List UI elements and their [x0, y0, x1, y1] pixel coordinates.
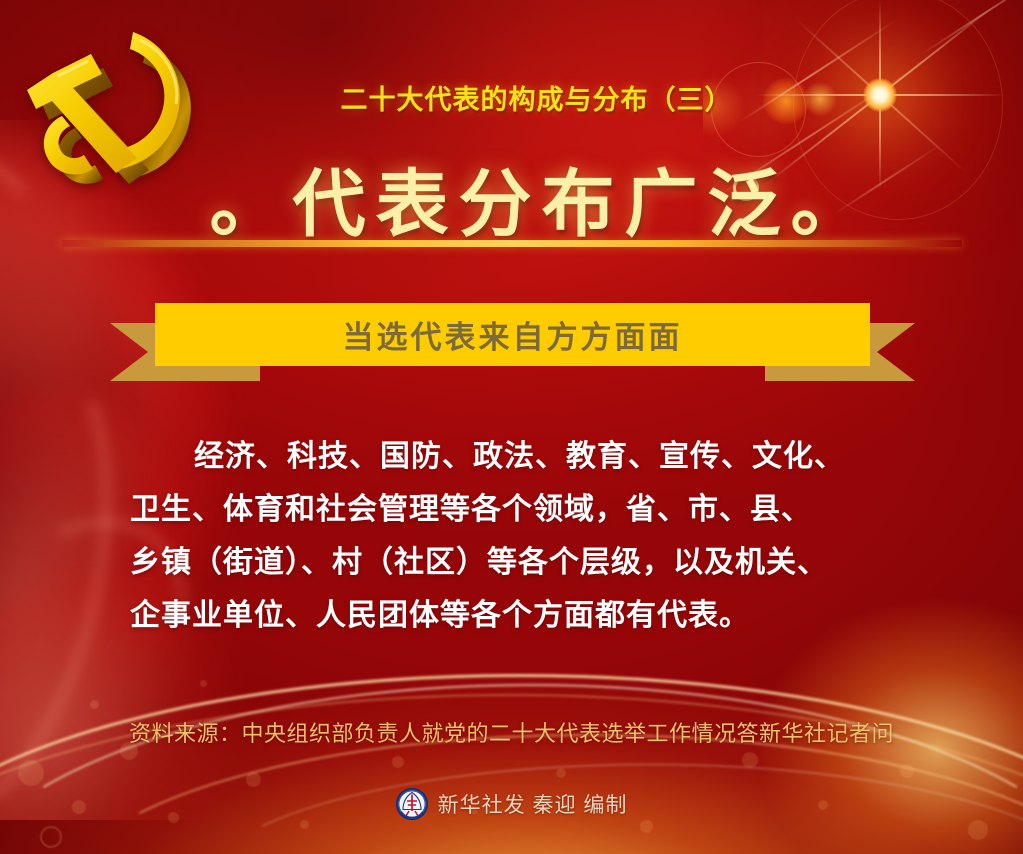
page-title: 。代表分布广泛。: [0, 145, 1023, 251]
credit-text: 新华社发 秦迎 编制: [438, 789, 628, 819]
source-note: 资料来源：中央组织部负责人就党的二十大代表选举工作情况答新华社记者问: [0, 716, 1023, 748]
poster-canvas: 二十大代表的构成与分布（三） 。代表分布广泛。 当选代表来自方方面面 经济、科技…: [0, 0, 1023, 854]
body-line: 企事业单位、人民团体等各个方面都有代表。: [130, 589, 893, 642]
body-paragraph: 经济、科技、国防、政法、教育、宣传、文化、 卫生、体育和社会管理等各个领域，省、…: [130, 430, 893, 642]
body-line: 卫生、体育和社会管理等各个领域，省、市、县、: [130, 483, 893, 536]
footer-credit: 新华社发 秦迎 编制: [0, 788, 1023, 820]
body-line: 乡镇（街道）、村（社区）等各个层级，以及机关、: [130, 536, 893, 589]
ribbon-label: 当选代表来自方方面面: [155, 303, 870, 366]
gold-divider-rule: [62, 240, 962, 247]
xinhua-news-agency-logo-icon: [396, 788, 428, 820]
series-subtitle: 二十大代表的构成与分布（三）: [0, 78, 1023, 117]
section-ribbon-banner: 当选代表来自方方面面: [110, 303, 915, 381]
body-line: 经济、科技、国防、政法、教育、宣传、文化、: [130, 430, 893, 483]
